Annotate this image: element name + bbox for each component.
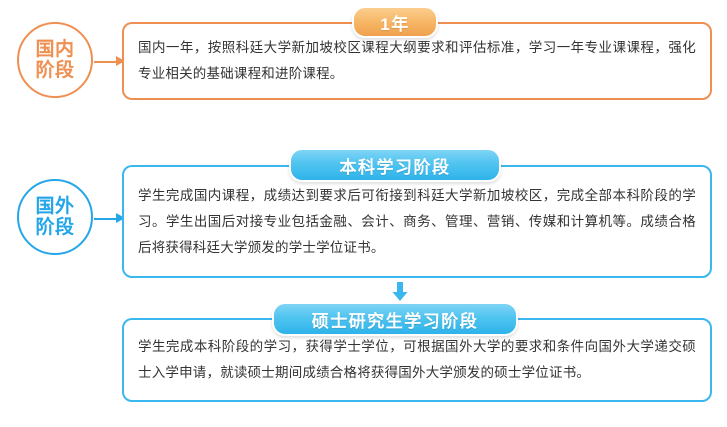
content-text-master: 学生完成本科阶段的学习，获得学士学位，可根据国外大学的要求和条件向国外大学递交硕… [138, 334, 696, 386]
stage-circle-overseas: 国外 阶段 [17, 179, 93, 255]
content-text-domestic: 国内一年，按照科廷大学新加坡校区课程大纲要求和评估标准，学习一年专业课课程，强化… [138, 35, 696, 87]
arrow-down-icon-to-master [389, 281, 411, 303]
flow-diagram: 国内 阶段 国内一年，按照科廷大学新加坡校区课程大纲要求和评估标准，学习一年专业… [0, 0, 727, 427]
stage-circle-overseas-line2: 阶段 [35, 217, 74, 238]
badge-duration-year: 1年 [352, 6, 438, 38]
stage-circle-overseas-line1: 国外 [35, 196, 74, 217]
stage-circle-domestic-line1: 国内 [35, 39, 74, 60]
badge-bachelor-stage: 本科学习阶段 [289, 148, 501, 182]
stage-circle-domestic: 国内 阶段 [17, 22, 93, 98]
badge-master-stage: 硕士研究生学习阶段 [272, 302, 518, 336]
stage-circle-domestic-line2: 阶段 [35, 60, 74, 81]
content-text-bachelor: 学生完成国内课程，成绩达到要求后可衔接到科廷大学新加坡校区，完成全部本科阶段的学… [138, 183, 696, 261]
